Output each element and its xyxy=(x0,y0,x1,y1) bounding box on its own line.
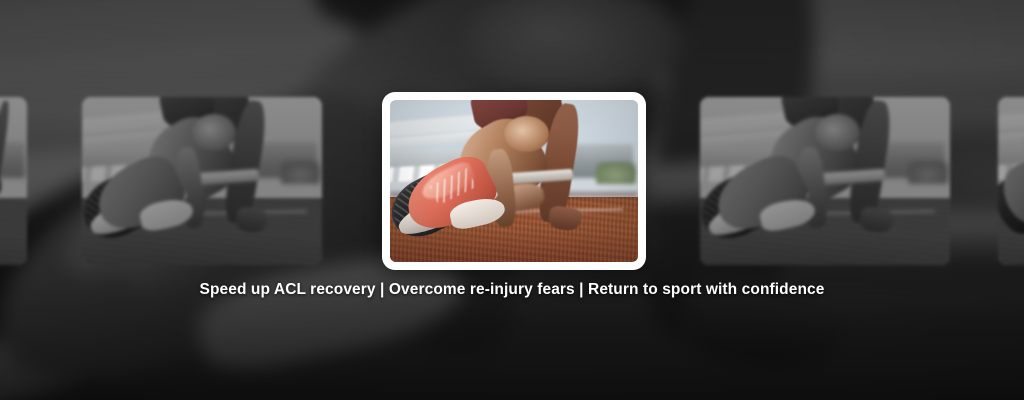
carousel-slide-next[interactable] xyxy=(700,97,950,265)
slide-photo xyxy=(0,97,27,265)
slide-thumbnail xyxy=(700,97,950,265)
carousel-slide-active[interactable] xyxy=(382,92,646,270)
vignette xyxy=(390,100,638,262)
slide-photo xyxy=(700,97,950,265)
slide-thumbnail xyxy=(0,97,27,265)
carousel-slide-partial-left[interactable] xyxy=(0,97,27,265)
active-slide-photo xyxy=(390,100,638,262)
tree xyxy=(281,161,319,185)
slide-photo xyxy=(82,97,322,265)
track-texture xyxy=(0,198,27,265)
carousel-slide-partial-right[interactable] xyxy=(998,97,1024,265)
tree xyxy=(908,161,948,185)
athlete-knee xyxy=(815,114,860,151)
carousel-slide-previous[interactable] xyxy=(82,97,322,265)
slide-thumbnail xyxy=(998,97,1024,265)
hero-banner: Speed up ACL recovery | Overcome re-inju… xyxy=(0,0,1024,400)
athlete-knee xyxy=(192,114,235,151)
active-slide-image xyxy=(390,100,638,262)
slide-photo xyxy=(998,97,1024,265)
hero-caption: Speed up ACL recovery | Overcome re-inju… xyxy=(0,281,1024,299)
slide-thumbnail xyxy=(82,97,322,265)
